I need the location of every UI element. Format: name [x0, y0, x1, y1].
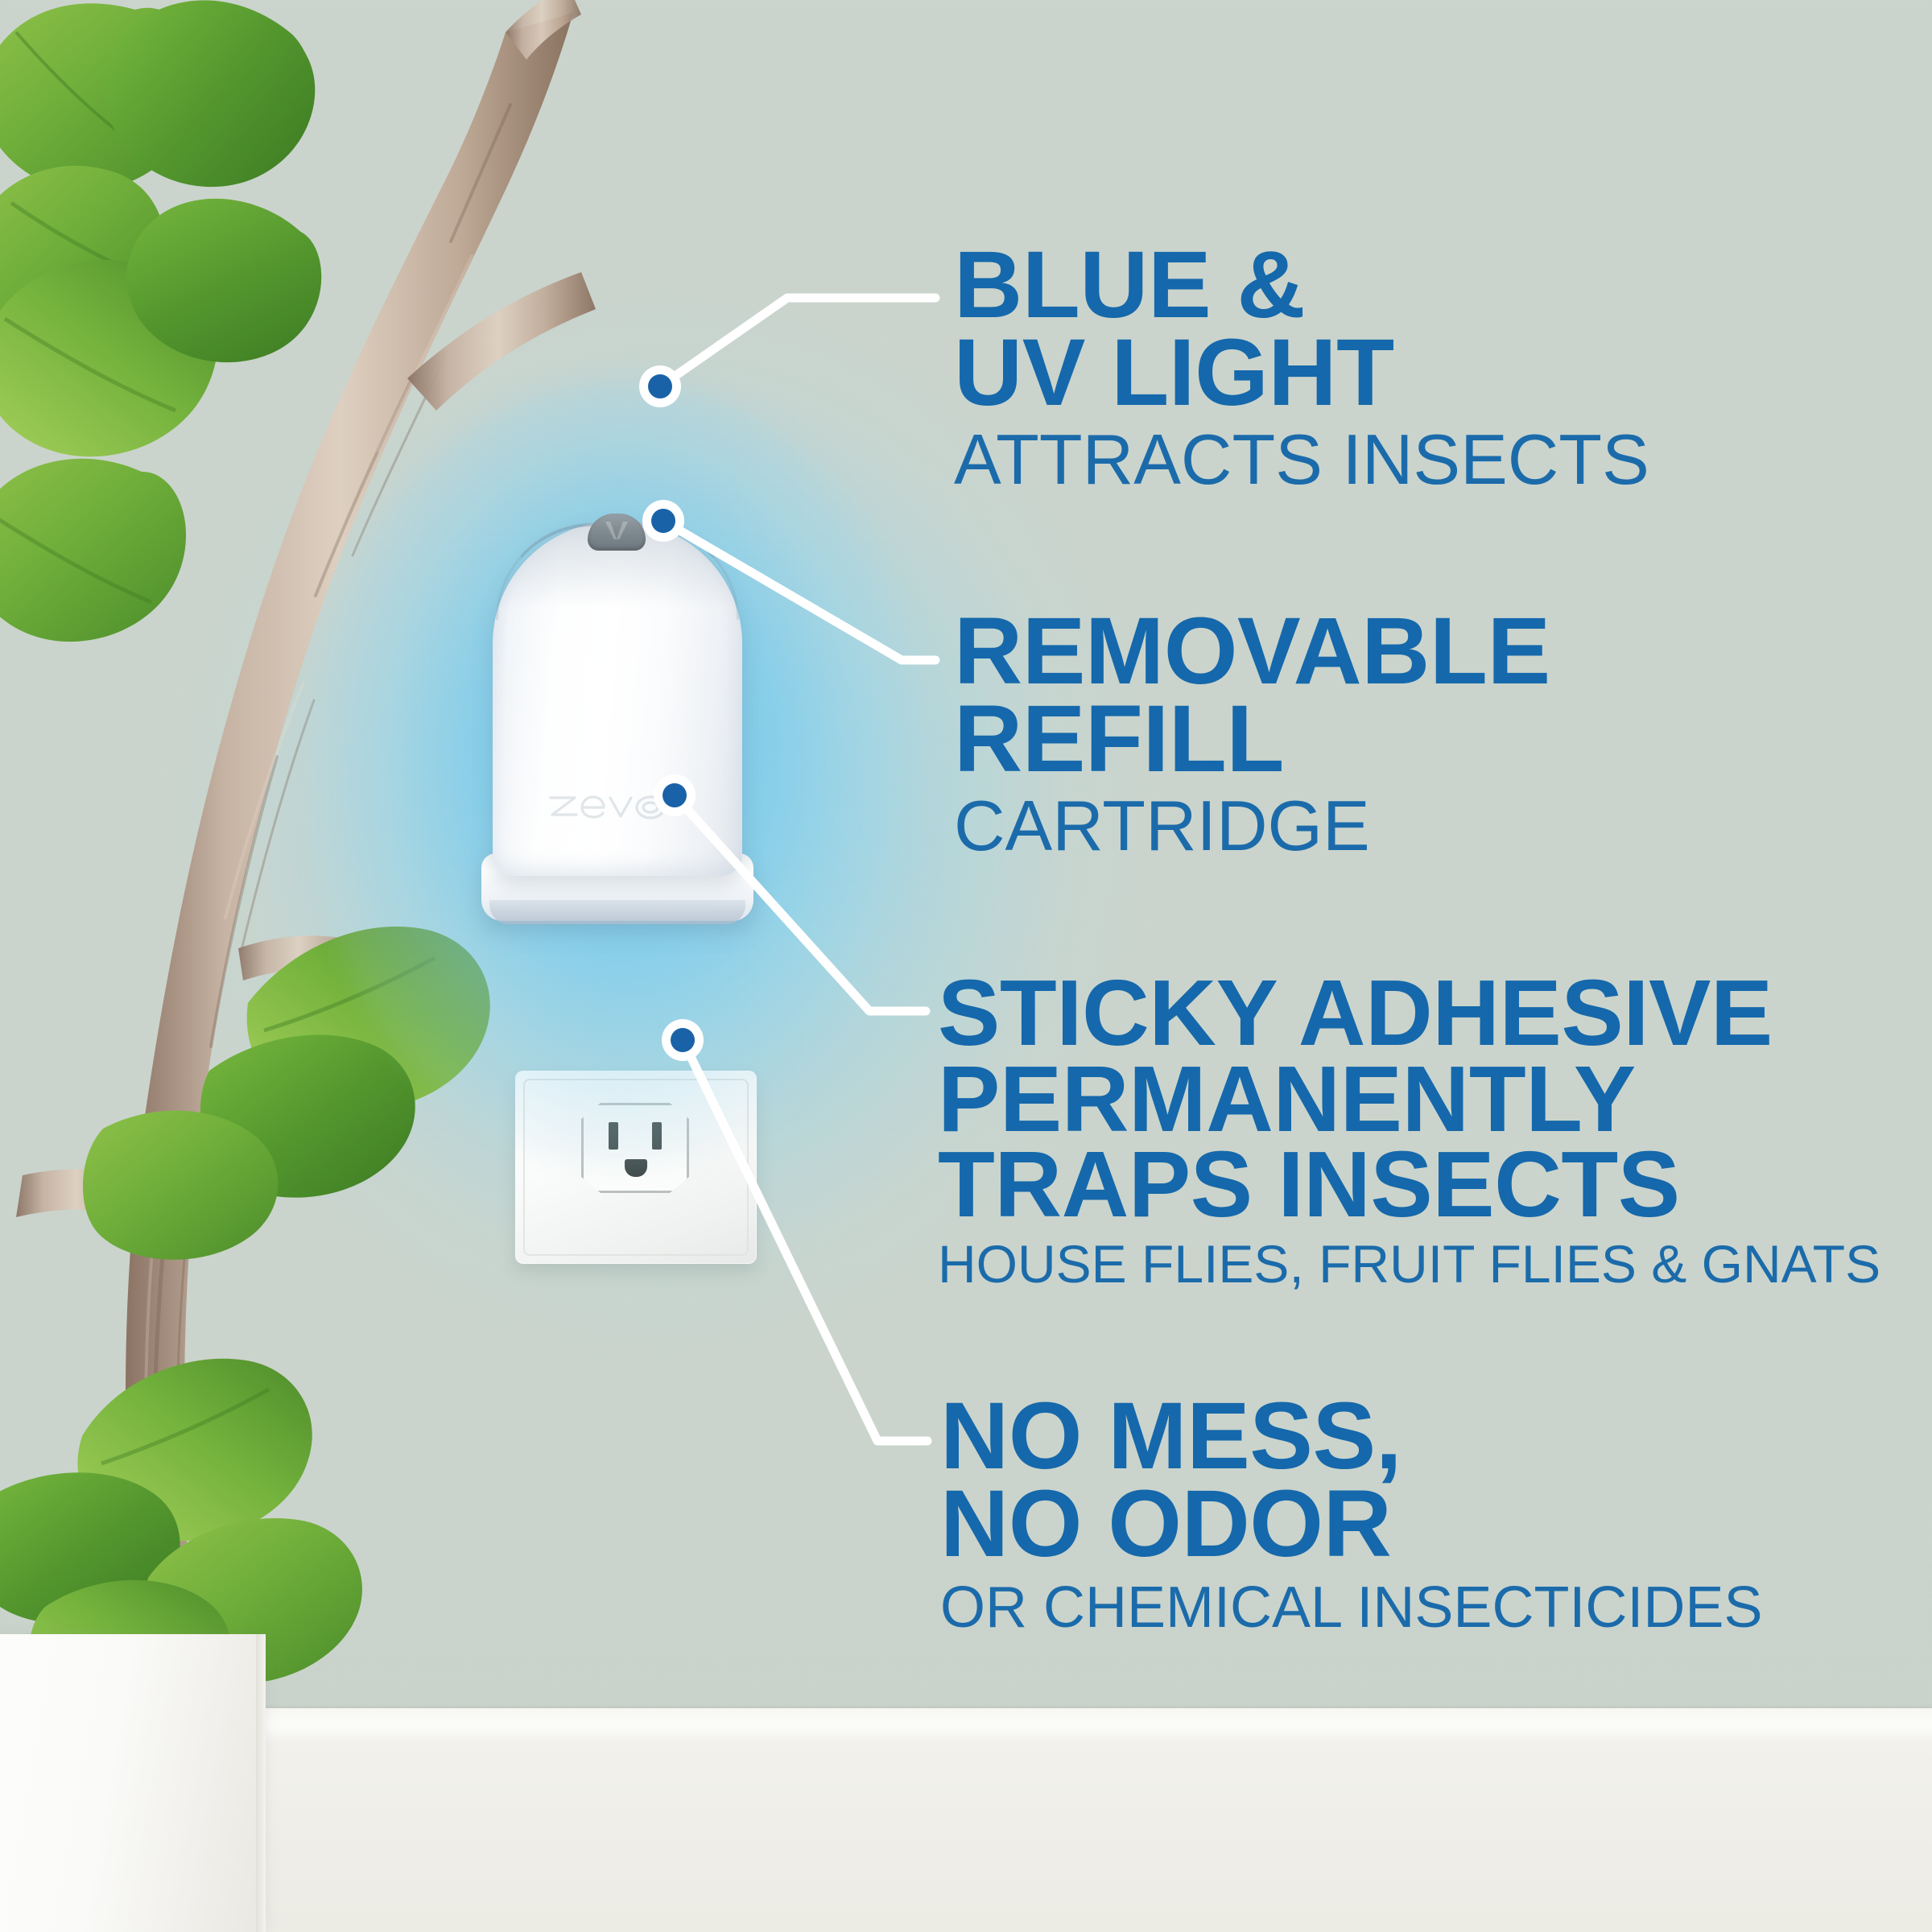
callout-headline: NO MESS, NO ODOR — [940, 1393, 1762, 1567]
callout-text-column: BLUE & UV LIGHT ATTRACTS INSECTS REMOVAB… — [0, 0, 1932, 1932]
infographic-scene: ® — [0, 0, 1932, 1932]
callout-headline: BLUE & UV LIGHT — [954, 242, 1649, 416]
callout-subline: CARTRIDGE — [954, 791, 1550, 861]
callout-subline: ATTRACTS INSECTS — [954, 424, 1649, 495]
callout-no-mess-no-odor: NO MESS, NO ODOR OR CHEMICAL INSECTICIDE… — [940, 1393, 1762, 1637]
callout-removable-refill-cartridge: REMOVABLE REFILL CARTRIDGE — [954, 608, 1550, 861]
callout-blue-uv-light: BLUE & UV LIGHT ATTRACTS INSECTS — [954, 242, 1649, 495]
callout-headline: REMOVABLE REFILL — [954, 608, 1550, 782]
callout-sticky-adhesive: STICKY ADHESIVE PERMANENTLY TRAPS INSECT… — [938, 970, 1880, 1290]
callout-subline: OR CHEMICAL INSECTICIDES — [940, 1579, 1762, 1637]
callout-subline: HOUSE FLIES, FRUIT FLIES & GNATS — [938, 1237, 1880, 1290]
callout-headline: STICKY ADHESIVE PERMANENTLY TRAPS INSECT… — [938, 970, 1880, 1228]
